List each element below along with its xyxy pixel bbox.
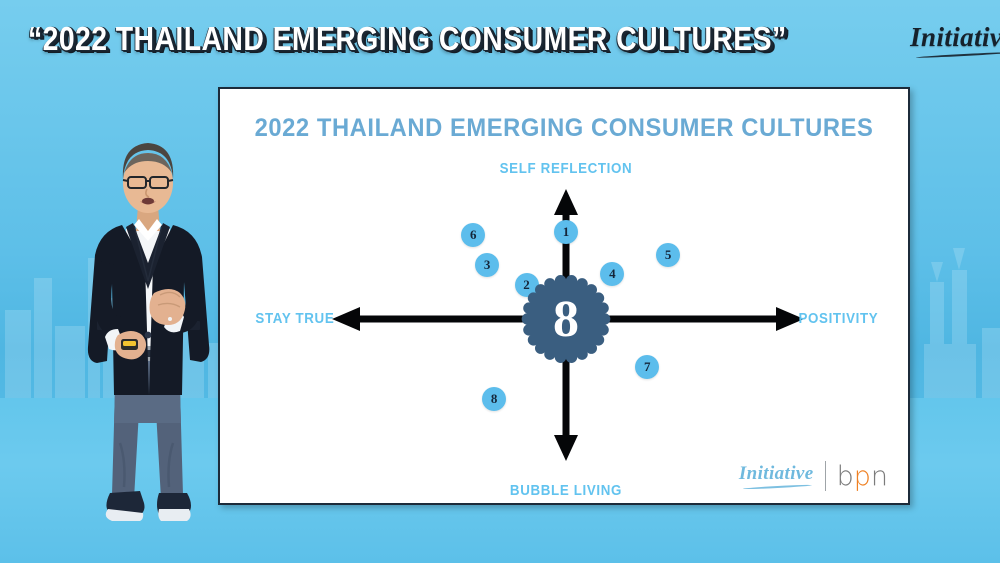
slide-logo-divider xyxy=(825,461,826,491)
culture-node-6[interactable]: 6 xyxy=(461,223,485,247)
culture-node-label: 1 xyxy=(563,224,570,240)
culture-node-8[interactable]: 8 xyxy=(482,387,506,411)
slide-initiative-logo: Initiative xyxy=(739,463,814,489)
culture-node-label: 8 xyxy=(491,391,498,407)
slide-footer-logo-group: Initiative b p n xyxy=(739,461,888,491)
header-logo-group: Initiative b p n xyxy=(910,17,1000,61)
axis-label-stay-true: STAY TRUE xyxy=(255,311,334,327)
initiative-logo: Initiative xyxy=(910,22,1000,57)
slide-title: 2022 THAILAND EMERGING CONSUMER CULTURES xyxy=(237,114,891,143)
consumer-culture-quadrant-diagram: SELF REFLECTION BUBBLE LIVING STAY TRUE … xyxy=(220,149,912,507)
center-badge: 8 xyxy=(520,273,612,365)
axis-label-self-reflection: SELF REFLECTION xyxy=(248,161,885,177)
culture-node-3[interactable]: 3 xyxy=(475,253,499,277)
presenter-person xyxy=(60,143,235,563)
slide-panel: 2022 THAILAND EMERGING CONSUMER CULTURES… xyxy=(218,87,910,505)
culture-node-7[interactable]: 7 xyxy=(635,355,659,379)
center-badge-number: 8 xyxy=(520,273,612,365)
culture-node-1[interactable]: 1 xyxy=(554,220,578,244)
header-bar: “2022 THAILAND EMERGING CONSUMER CULTURE… xyxy=(0,0,1000,78)
culture-node-label: 6 xyxy=(470,227,477,243)
culture-node-5[interactable]: 5 xyxy=(656,243,680,267)
culture-node-label: 5 xyxy=(665,247,672,263)
page-title: “2022 THAILAND EMERGING CONSUMER CULTURE… xyxy=(28,20,787,58)
slide-bpn-logo-p: p xyxy=(854,463,871,490)
culture-node-label: 3 xyxy=(484,257,491,273)
culture-node-label: 7 xyxy=(644,359,651,375)
slide-bpn-logo-b: b xyxy=(837,463,854,490)
slide-bpn-logo: b p n xyxy=(837,463,888,490)
axis-label-positivity: POSITIVITY xyxy=(799,311,879,327)
slide-bpn-logo-n: n xyxy=(871,463,888,490)
